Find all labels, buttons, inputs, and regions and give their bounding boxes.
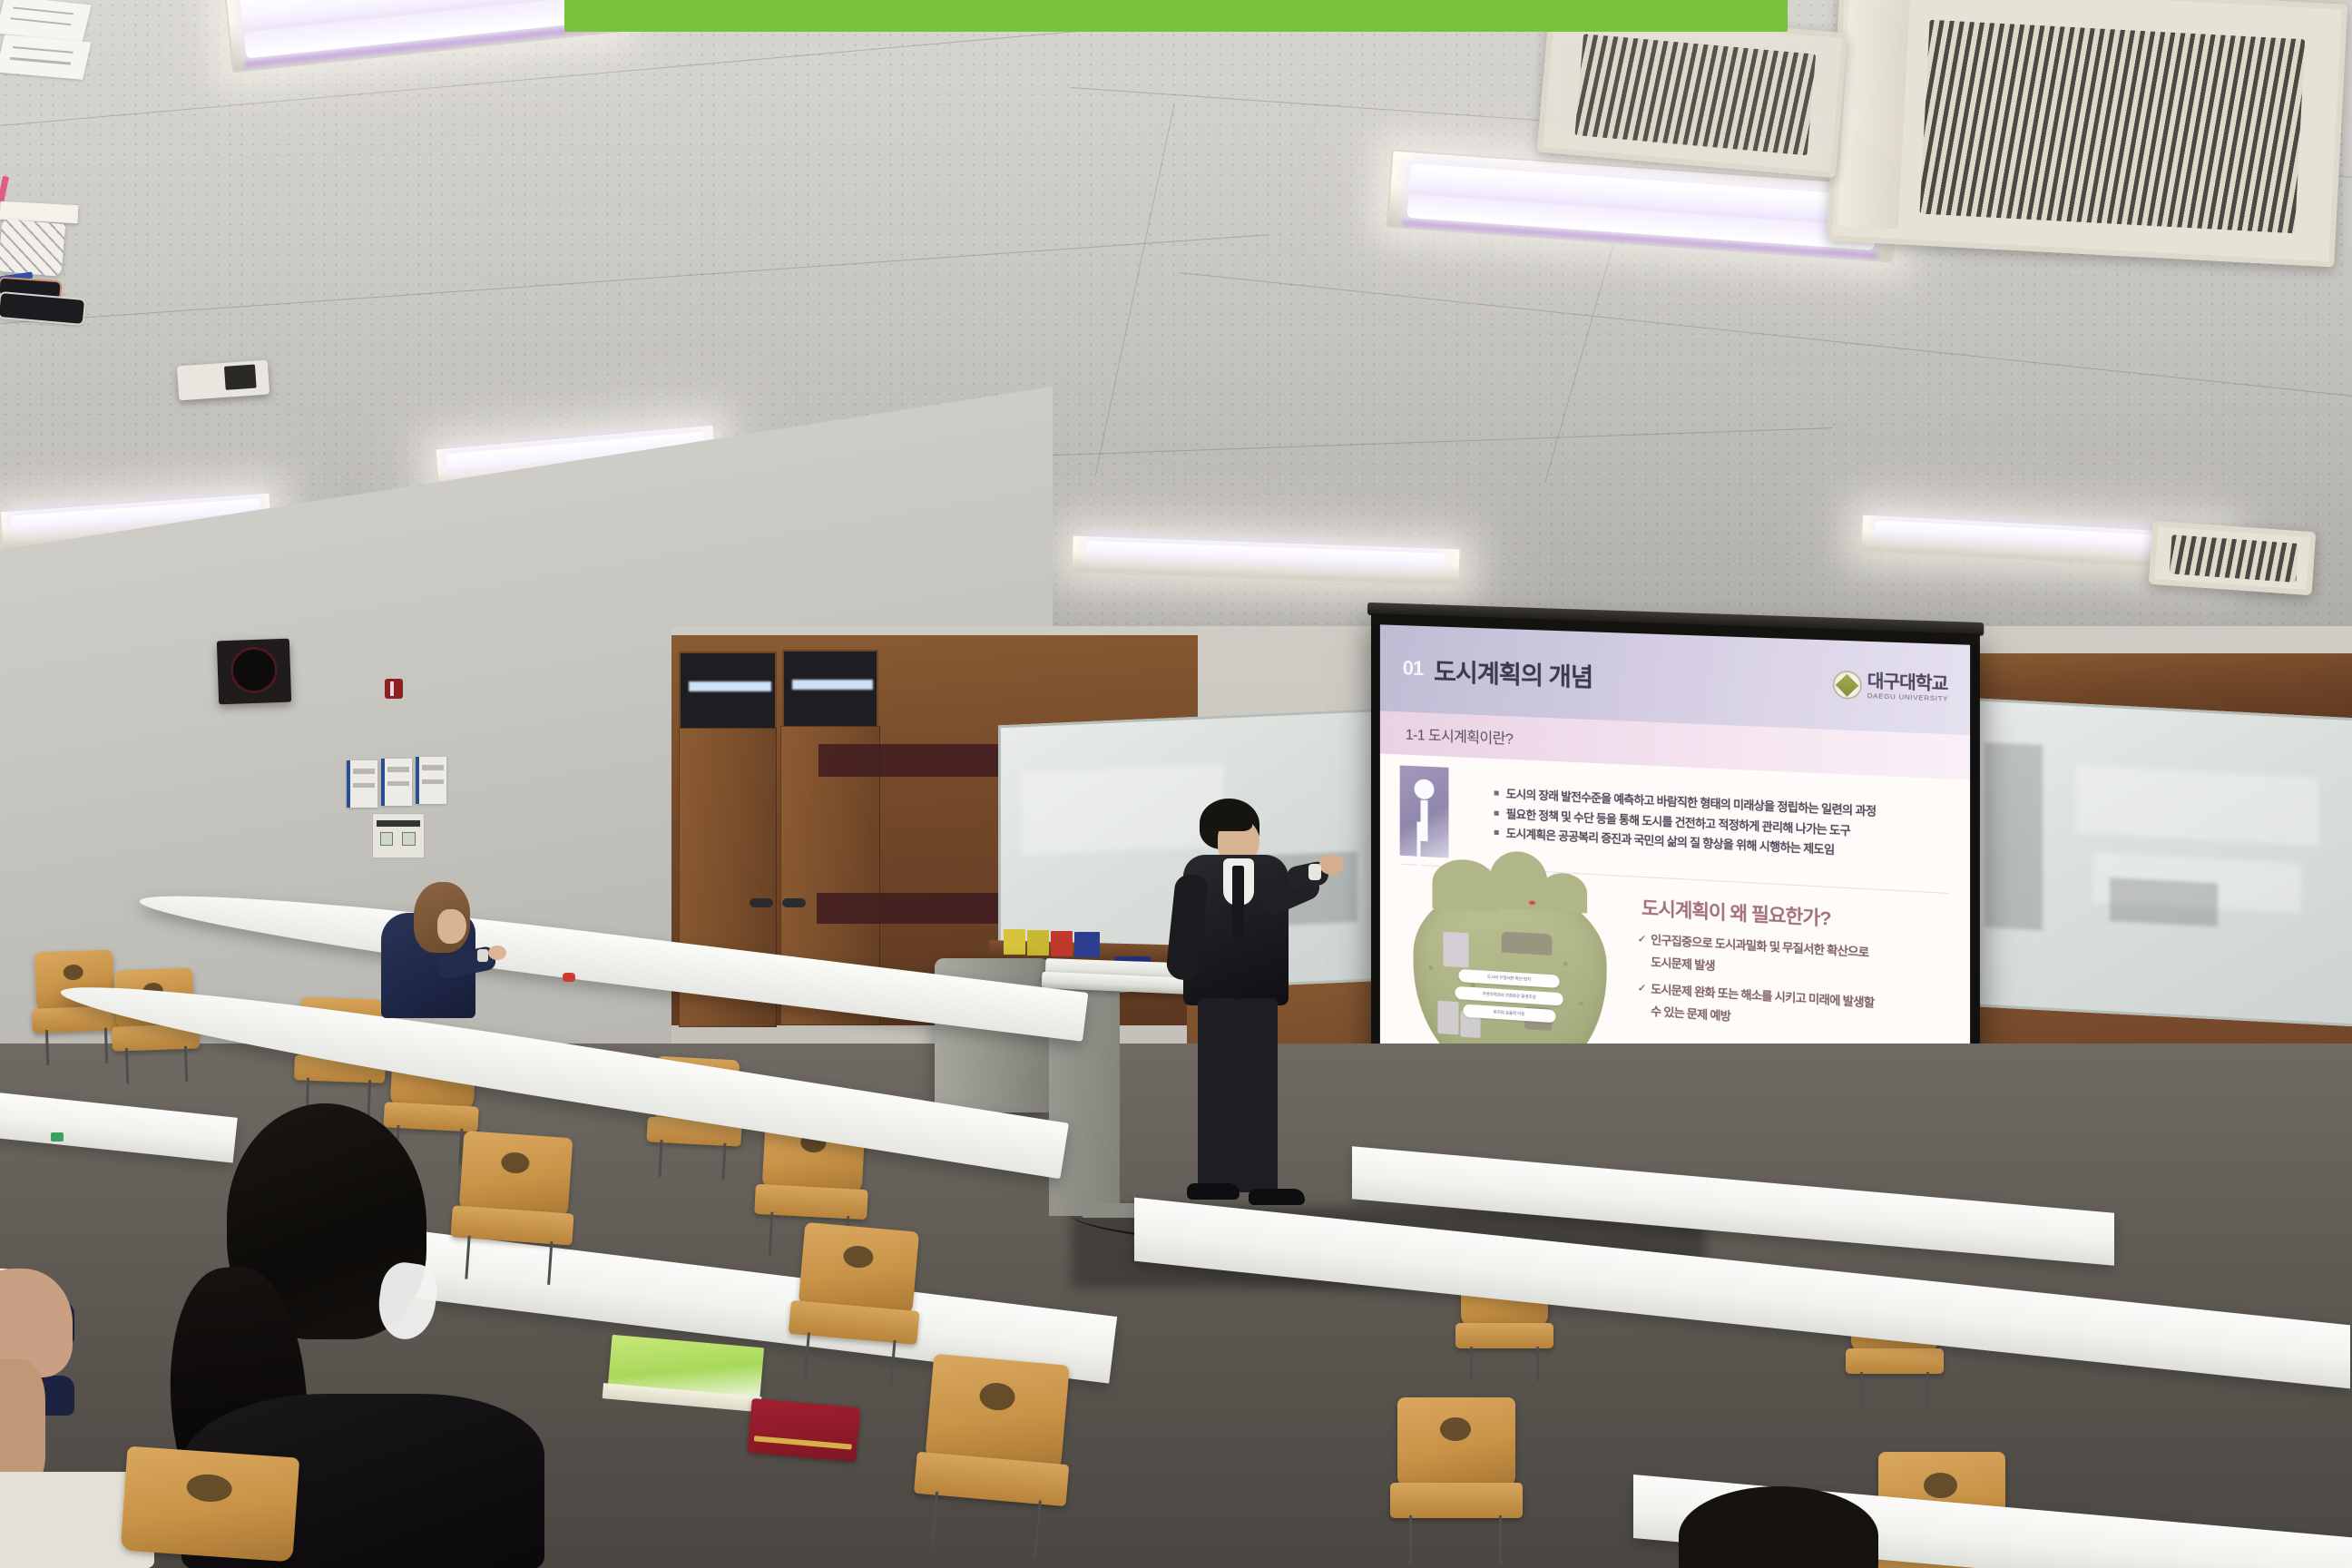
student-writing: [381, 882, 499, 1018]
chair-seat: [1390, 1483, 1523, 1519]
chair-backrest: [1397, 1397, 1515, 1489]
green-eraser: [51, 1132, 64, 1142]
chair[interactable]: [455, 1131, 573, 1283]
chair-leg: [1470, 1347, 1473, 1382]
chair-leg: [803, 1332, 809, 1377]
presenter-left-leg: [1198, 998, 1238, 1187]
chair-leg: [1499, 1515, 1502, 1564]
marker-box: [1051, 931, 1073, 956]
check-icon: ✓: [1638, 981, 1646, 997]
student-face: [437, 909, 466, 944]
patterned-bag[interactable]: [0, 219, 65, 277]
logo-diamond-icon: [1832, 671, 1861, 700]
illustration-hill: [1540, 872, 1587, 913]
paper-sheet: [0, 34, 92, 80]
why-title: 도시계획이 왜 필요한가?: [1641, 892, 1948, 937]
poster-line: [387, 781, 409, 786]
door-handle[interactable]: [750, 898, 773, 907]
chair-backrest: [458, 1131, 573, 1220]
chair-leg: [931, 1492, 938, 1549]
university-logo: 대구대학교 DAEGU UNIVERSITY: [1832, 671, 1948, 703]
ac-grille: [1574, 34, 1816, 155]
poster-accent-bar: [381, 759, 385, 806]
ac-vent-small: [2149, 521, 2316, 595]
chair-leg: [1409, 1515, 1412, 1564]
wall-poster: [416, 757, 446, 804]
lecture-hall-photo: 01 도시계획의 개념 대구대학교 DAEGU UNIVERSITY 1-1 도…: [0, 0, 2352, 1568]
marker-box: [1004, 929, 1025, 955]
whiteboard-reflection: [1984, 741, 2043, 929]
ac-cassette-unit: [1537, 7, 1848, 178]
marker-box: [1027, 930, 1049, 955]
chair-leg: [547, 1241, 553, 1285]
poster-line: [422, 779, 444, 784]
logo-english-name: DAEGU UNIVERSITY: [1867, 692, 1949, 702]
whiteboard-reflection: [2110, 877, 2219, 926]
ac-grille: [2169, 534, 2298, 583]
presenter-tie: [1232, 866, 1244, 936]
panel-button[interactable]: [402, 832, 415, 845]
presenter-right-leg: [1236, 998, 1278, 1192]
check-icon: ✓: [1638, 932, 1646, 948]
door-transom-window: [679, 652, 777, 731]
chair-leg: [465, 1236, 470, 1279]
illustration-tree-dot: [1563, 962, 1568, 966]
poster-line: [353, 783, 375, 788]
slide-title: 도시계획의 개념: [1434, 652, 1592, 693]
student-hand: [488, 946, 506, 960]
panel-button[interactable]: [380, 832, 393, 845]
chair-backrest: [121, 1446, 300, 1563]
wall-speaker: [217, 639, 291, 705]
chair[interactable]: [1397, 1397, 1515, 1561]
slide-subsection-label: 1-1 도시계획이란?: [1406, 722, 1513, 749]
chair[interactable]: [120, 1446, 299, 1568]
wristwatch: [477, 949, 488, 962]
illustration-building: [1501, 931, 1552, 955]
wall-poster: [381, 759, 412, 806]
ac-louver-edge: [1837, 0, 1910, 229]
student-bottom-right: [1679, 1486, 1887, 1568]
presenter-hair-fringe: [1203, 802, 1252, 831]
wall-poster: [347, 760, 377, 808]
whiteboard-right: [1951, 697, 2352, 1027]
poster-accent-bar: [347, 760, 350, 808]
illustration-tree-dot: [1428, 965, 1433, 970]
chair-leg: [1034, 1501, 1041, 1558]
illustration-label: 주변지역과의 조화로운 환경조성: [1455, 986, 1563, 1005]
door-handle[interactable]: [782, 898, 806, 907]
ac-cassette-unit: [1827, 0, 2347, 267]
poster-line: [387, 767, 409, 771]
poster-line: [422, 765, 444, 769]
presenter-cuff: [1308, 864, 1321, 880]
student-hair: [1679, 1486, 1878, 1568]
paper-writing-line: [10, 17, 71, 25]
paper-writing-line: [9, 57, 71, 64]
whiteboard-reflection: [2076, 765, 2318, 846]
chair-leg: [890, 1340, 897, 1386]
paper-writing-line: [13, 6, 73, 15]
poster-accent-bar: [416, 757, 419, 804]
chair-leg: [45, 1030, 49, 1064]
smoke-detector: [177, 360, 269, 401]
presenter-hand: [1319, 855, 1343, 875]
presenter-right-shoe: [1249, 1189, 1305, 1205]
wall-control-panel[interactable]: [372, 813, 425, 858]
fire-alarm: [385, 679, 403, 699]
presenter: [1171, 799, 1334, 1216]
presenter-left-shoe: [1187, 1183, 1240, 1200]
ac-grille: [1919, 19, 2305, 233]
illustration-tree-dot: [1579, 1002, 1583, 1006]
paper-writing-line: [12, 46, 73, 54]
chair[interactable]: [917, 1354, 1070, 1555]
door-transom-window: [782, 650, 878, 730]
marker-box: [1074, 932, 1100, 957]
red-pouch[interactable]: [748, 1398, 861, 1462]
logo-korean-name: 대구대학교: [1867, 672, 1949, 693]
chair[interactable]: [792, 1222, 919, 1384]
illustration-building: [1444, 932, 1468, 968]
slide-section-number: 01: [1403, 657, 1423, 681]
panel-display-strip: [377, 820, 419, 828]
chair-leg: [769, 1212, 774, 1256]
poster-line: [353, 769, 375, 773]
red-pen-cap: [563, 973, 575, 982]
illustration-building: [1438, 1001, 1459, 1034]
transom-light-reflection: [689, 681, 771, 691]
transom-light-reflection: [792, 680, 873, 690]
key-icon: [1400, 766, 1449, 858]
logo-text: 대구대학교 DAEGU UNIVERSITY: [1867, 672, 1949, 702]
bottle-cap: [564, 0, 1788, 32]
